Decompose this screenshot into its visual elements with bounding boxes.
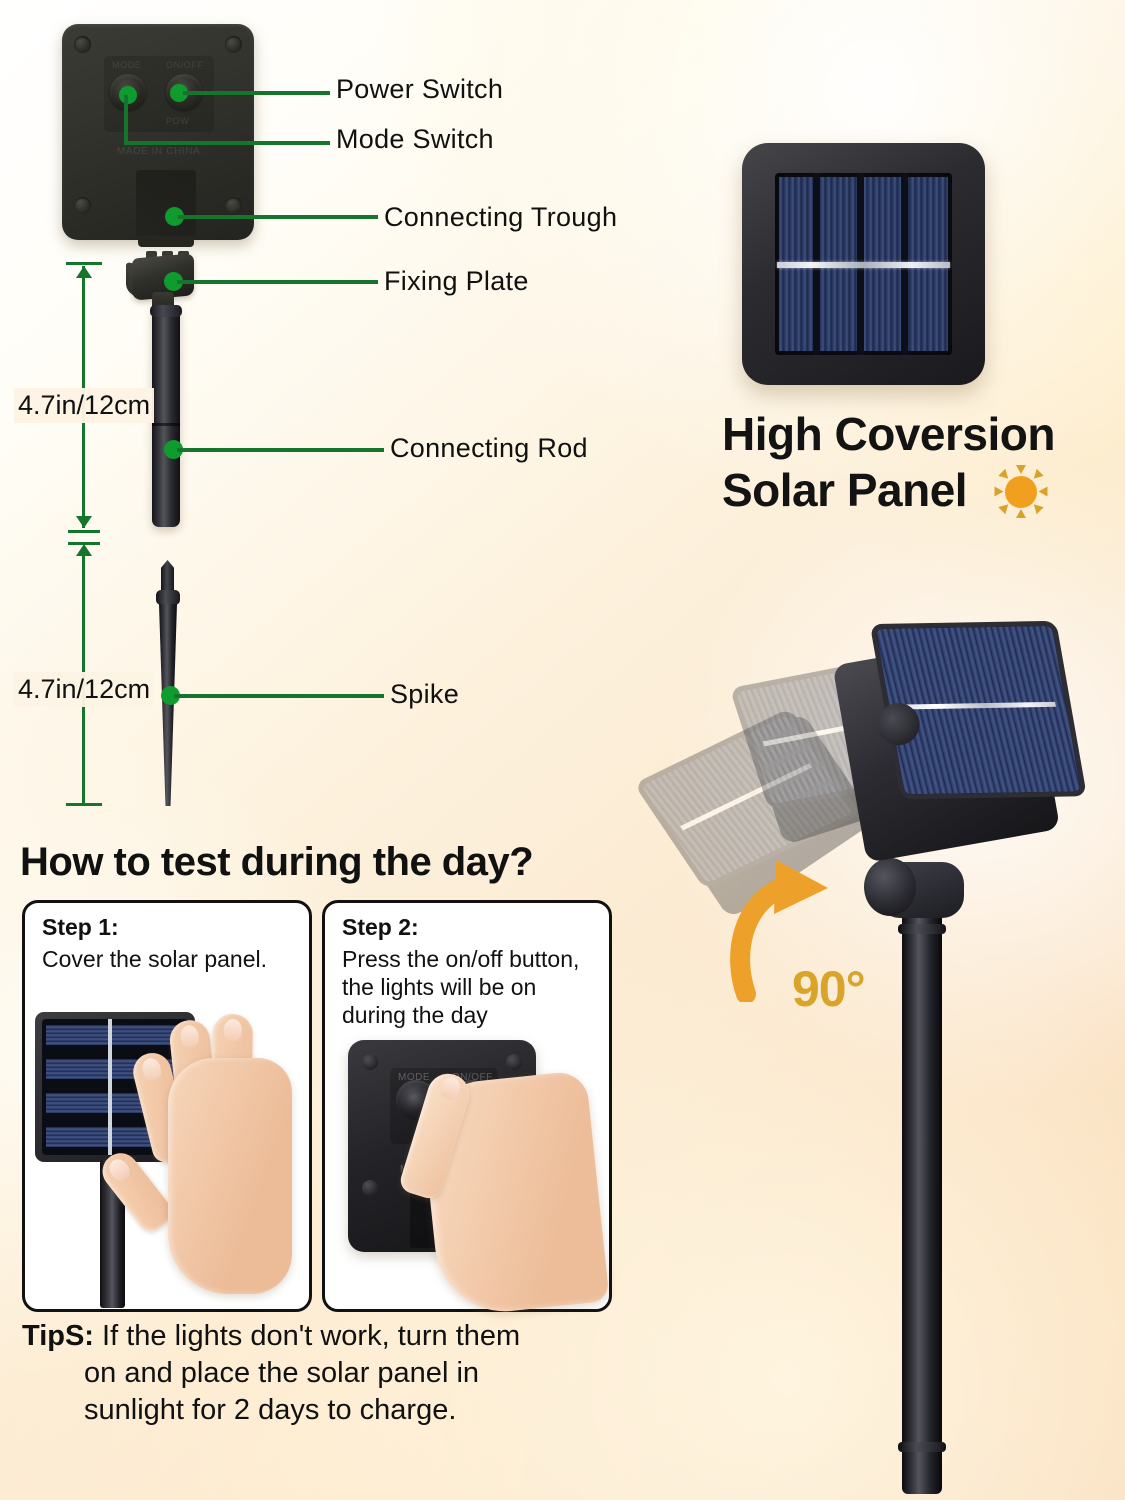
spike-part bbox=[156, 560, 180, 806]
callout-line-mode-switch-horizontal bbox=[124, 141, 330, 145]
dim2-bottom-cap bbox=[66, 803, 102, 806]
callout-label-connecting-rod: Connecting Rod bbox=[390, 433, 588, 464]
step-2-heading: Step 2: bbox=[342, 914, 419, 941]
unit-bottom-lip bbox=[138, 238, 194, 247]
spike-shaft bbox=[159, 604, 177, 806]
connecting-rod-part bbox=[152, 305, 180, 527]
solar-panel-busbar bbox=[777, 262, 950, 268]
rotation-pole bbox=[902, 882, 942, 1494]
callout-line-power-switch bbox=[183, 91, 330, 95]
step-1-heading: Step 1: bbox=[42, 914, 119, 941]
spike-top-tip bbox=[161, 560, 174, 590]
dim1-bottom-arrow-icon bbox=[76, 516, 92, 528]
callout-line-fixing-plate bbox=[177, 280, 378, 284]
screw-top-right-icon bbox=[225, 36, 242, 53]
origin-marking: MADE IN CHINA bbox=[117, 146, 200, 157]
pole-band-1 bbox=[898, 924, 946, 934]
step1-nail-pinky bbox=[106, 1156, 134, 1184]
step-1-text: Cover the solar panel. bbox=[42, 945, 290, 973]
infographic-canvas: MODE ON/OFF POW MADE IN CHINA Power Swit… bbox=[0, 0, 1125, 1500]
step1-palm bbox=[168, 1058, 292, 1294]
step1-nail-middle bbox=[224, 1019, 242, 1041]
rod-seam bbox=[152, 423, 180, 426]
solar-unit-back-view: MODE ON/OFF POW MADE IN CHINA bbox=[62, 24, 254, 240]
screw-top-left-icon bbox=[74, 36, 91, 53]
rotation-demo-scene: 90° bbox=[640, 630, 1125, 1500]
callout-label-connecting-trough: Connecting Trough bbox=[384, 202, 617, 233]
dim1-top-cap bbox=[66, 262, 102, 265]
tips-line-1: If the lights don't work, turn them bbox=[94, 1320, 520, 1352]
step2-screw-bl-icon bbox=[362, 1180, 378, 1196]
dim1-bottom-cap bbox=[68, 530, 100, 533]
dimension-label-spike: 4.7in/12cm bbox=[14, 672, 154, 707]
pole-band-2 bbox=[898, 1442, 946, 1452]
rotation-angle-label: 90° bbox=[792, 960, 865, 1018]
spike-collar-ring bbox=[156, 590, 180, 605]
solar-panel-glass bbox=[775, 173, 952, 355]
tips-line-3: sunlight for 2 days to charge. bbox=[22, 1392, 642, 1429]
callout-label-spike: Spike bbox=[390, 679, 459, 710]
callout-label-fixing-plate: Fixing Plate bbox=[384, 266, 529, 297]
step2-screw-tr-icon bbox=[506, 1054, 522, 1070]
callout-label-power-switch: Power Switch bbox=[336, 74, 503, 105]
sun-disc bbox=[1005, 476, 1037, 508]
sun-icon bbox=[995, 466, 1047, 518]
step1-nail-ring bbox=[140, 1056, 163, 1082]
mode-marking: MODE bbox=[112, 60, 141, 70]
rod-collar bbox=[150, 305, 182, 317]
hero-heading: High Coversion Solar Panel bbox=[722, 406, 1122, 518]
tips-line-2: on and place the solar panel in bbox=[22, 1355, 642, 1392]
solar-panel-hero-image bbox=[742, 143, 985, 385]
hero-title-line2: Solar Panel bbox=[722, 464, 967, 516]
onoff-marking: ON/OFF bbox=[166, 60, 204, 70]
tips-block: TipS: If the lights don't work, turn the… bbox=[22, 1318, 642, 1429]
step1-busbar bbox=[108, 1019, 112, 1155]
screw-bottom-left-icon bbox=[74, 197, 91, 214]
step-2-text: Press the on/off button, the lights will… bbox=[342, 945, 590, 1029]
step2-screw-tl-icon bbox=[362, 1054, 378, 1070]
callout-line-mode-switch-vertical bbox=[124, 95, 128, 145]
step1-nail-index bbox=[179, 1024, 199, 1048]
fixing-plate-part bbox=[126, 248, 200, 310]
connecting-trough-slot bbox=[136, 170, 196, 236]
callout-line-spike bbox=[174, 694, 384, 698]
callout-line-connecting-rod bbox=[177, 448, 384, 452]
screw-bottom-right-icon bbox=[225, 197, 242, 214]
callout-label-mode-switch: Mode Switch bbox=[336, 124, 494, 155]
step1-cell-1 bbox=[46, 1025, 184, 1045]
callout-line-connecting-trough bbox=[178, 215, 378, 219]
callout-dot-mode-switch bbox=[119, 86, 137, 104]
dimension-label-rod: 4.7in/12cm bbox=[14, 388, 154, 423]
tips-prefix: TipS: bbox=[22, 1320, 94, 1352]
step2-finger-nail bbox=[439, 1075, 463, 1101]
hero-title-line1: High Coversion bbox=[722, 408, 1055, 460]
pow-marking: POW bbox=[166, 116, 189, 126]
howto-section-title: How to test during the day? bbox=[20, 840, 533, 885]
